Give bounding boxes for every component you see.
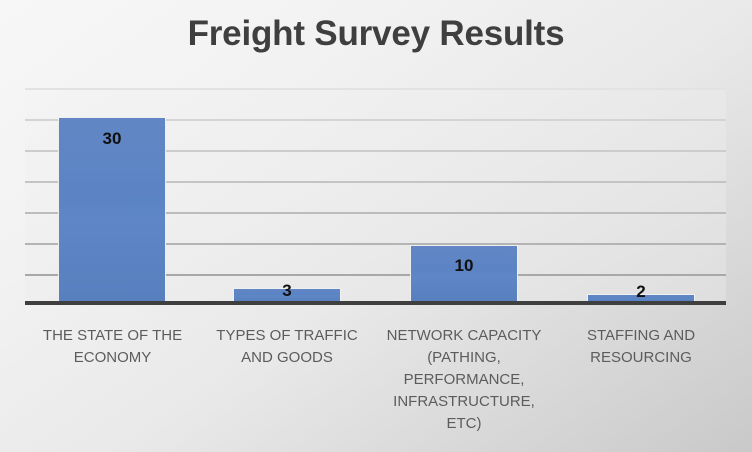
bar-value-label: 10 — [410, 256, 518, 276]
category-label-staffing-and-resourcing: STAFFING AND RESOURCING — [556, 325, 726, 369]
category-label-network-capacity: NETWORK CAPACITY (PATHING, PERFORMANCE, … — [378, 325, 550, 435]
category-label-types-of-traffic-and-goods: TYPES OF TRAFFIC AND GOODS — [202, 325, 372, 369]
chart-title: Freight Survey Results — [0, 14, 752, 54]
bar-value-label: 3 — [233, 281, 341, 301]
chart-container: Freight Survey Results 30 3 10 2 THE STA… — [0, 0, 752, 452]
bar-value-label: 30 — [58, 129, 166, 149]
category-label-the-state-of-the-economy: THE STATE OF THE ECONOMY — [25, 325, 200, 369]
gridline — [25, 88, 726, 90]
bar-value-label: 2 — [587, 282, 695, 302]
